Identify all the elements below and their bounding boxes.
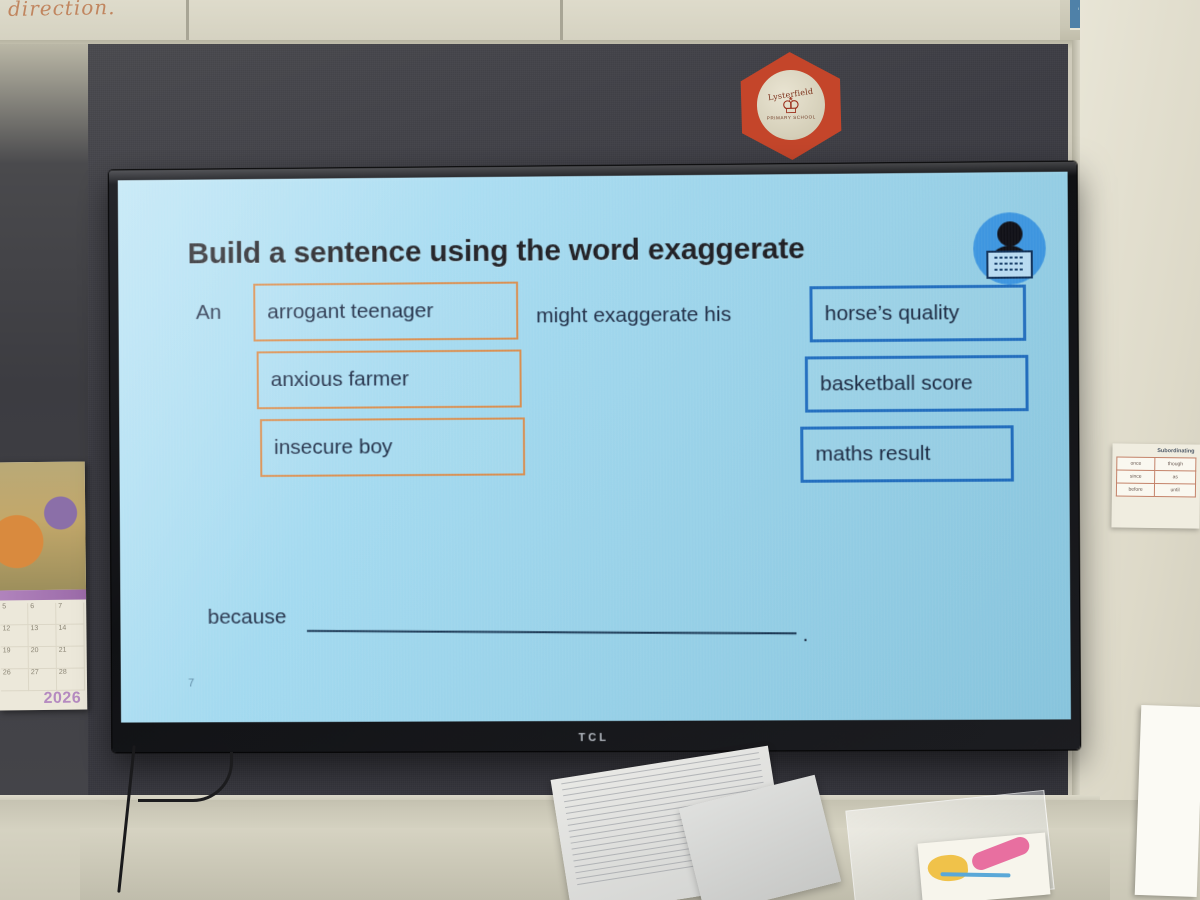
drawing-shape-pink <box>969 834 1031 872</box>
page-title: Build a sentence using the word exaggera… <box>187 232 804 271</box>
conjunction-cell: before <box>1116 483 1154 497</box>
calendar-day: 6 <box>28 603 56 625</box>
reason-label: because <box>208 605 287 629</box>
conjunctions-poster-title: Subordinating <box>1116 447 1196 454</box>
whiteboard-handwriting: direction. <box>8 0 116 21</box>
conjunctions-poster: Subordinating once though since as befor… <box>1111 443 1200 528</box>
object-option-3-label: maths result <box>815 442 930 467</box>
conjunction-cell: as <box>1155 470 1196 484</box>
school-logo-hexagon: Lysterfield ♔ PRIMARY SCHOOL <box>736 51 847 162</box>
object-option-3[interactable]: maths result <box>800 425 1014 482</box>
calendar-year: 2026 <box>43 690 81 708</box>
sentence-lead-word: An <box>196 301 222 325</box>
whiteboard-divider <box>186 0 189 40</box>
handwritten-word-list <box>1135 705 1200 897</box>
calendar-day: 12 <box>0 625 28 647</box>
object-option-2-label: basketball score <box>820 371 973 396</box>
calendar-day: 20 <box>29 647 57 669</box>
subject-option-1-label: arrogant teenager <box>267 299 433 324</box>
wall-calendar: 5 6 7 12 13 14 19 20 21 26 27 28 2026 <box>0 462 87 711</box>
conjunction-cell: once <box>1117 457 1155 471</box>
person-reading-icon <box>973 212 1046 285</box>
calendar-day: 19 <box>1 647 29 669</box>
calendar-day: 5 <box>0 603 28 625</box>
object-option-1[interactable]: horse’s quality <box>809 285 1026 343</box>
subject-option-2[interactable]: anxious farmer <box>257 350 522 410</box>
object-option-2[interactable]: basketball score <box>805 355 1029 413</box>
avatar-head <box>997 221 1022 246</box>
calendar-grid: 5 6 7 12 13 14 19 20 21 26 27 28 <box>0 600 87 695</box>
table-row: before until <box>1116 483 1195 497</box>
calendar-day: 14 <box>56 625 84 647</box>
calendar-day: 7 <box>56 603 84 625</box>
conjunction-cell: though <box>1155 457 1196 471</box>
conjunctions-table: once though since as before until <box>1116 456 1197 497</box>
calendar-day: 21 <box>57 647 85 669</box>
tv-brand-label: TCL <box>112 730 1080 745</box>
table-row: once though <box>1117 457 1196 471</box>
reason-blank-line[interactable] <box>307 630 796 635</box>
calendar-photo-kitten <box>0 462 86 591</box>
whiteboard-strip: direction. <box>0 0 1060 40</box>
conjunction-cell: since <box>1117 470 1155 484</box>
calendar-day: 27 <box>29 669 57 691</box>
slide-number: 7 <box>188 678 194 690</box>
calendar-day: 26 <box>1 669 29 691</box>
subject-option-2-label: anxious farmer <box>271 367 409 392</box>
sentence-middle-phrase: might exaggerate his <box>536 303 731 328</box>
horse-icon: ♔ <box>781 98 801 115</box>
avatar-reading-card <box>986 250 1033 279</box>
subject-option-3[interactable]: insecure boy <box>260 417 525 477</box>
calendar-day: 13 <box>28 625 56 647</box>
table-row: since as <box>1117 470 1196 484</box>
school-subtitle: PRIMARY SCHOOL <box>767 114 816 120</box>
reason-end-punctuation: . <box>802 623 808 647</box>
calendar-day: 28 <box>57 669 85 691</box>
subject-option-1[interactable]: arrogant teenager <box>253 282 518 342</box>
subject-option-3-label: insecure boy <box>274 435 393 460</box>
conjunction-cell: until <box>1155 483 1196 497</box>
student-drawing <box>918 833 1051 900</box>
drawing-shape-yellow <box>927 853 969 882</box>
object-option-1-label: horse’s quality <box>825 301 960 326</box>
classroom-photo-scene: direction. I KEEP GOING THROUGH OBSTACLE… <box>0 0 1200 900</box>
tv-screen[interactable]: Build a sentence using the word exaggera… <box>118 172 1071 723</box>
whiteboard-divider <box>560 0 563 40</box>
wall-mounted-television[interactable]: Build a sentence using the word exaggera… <box>109 162 1080 753</box>
